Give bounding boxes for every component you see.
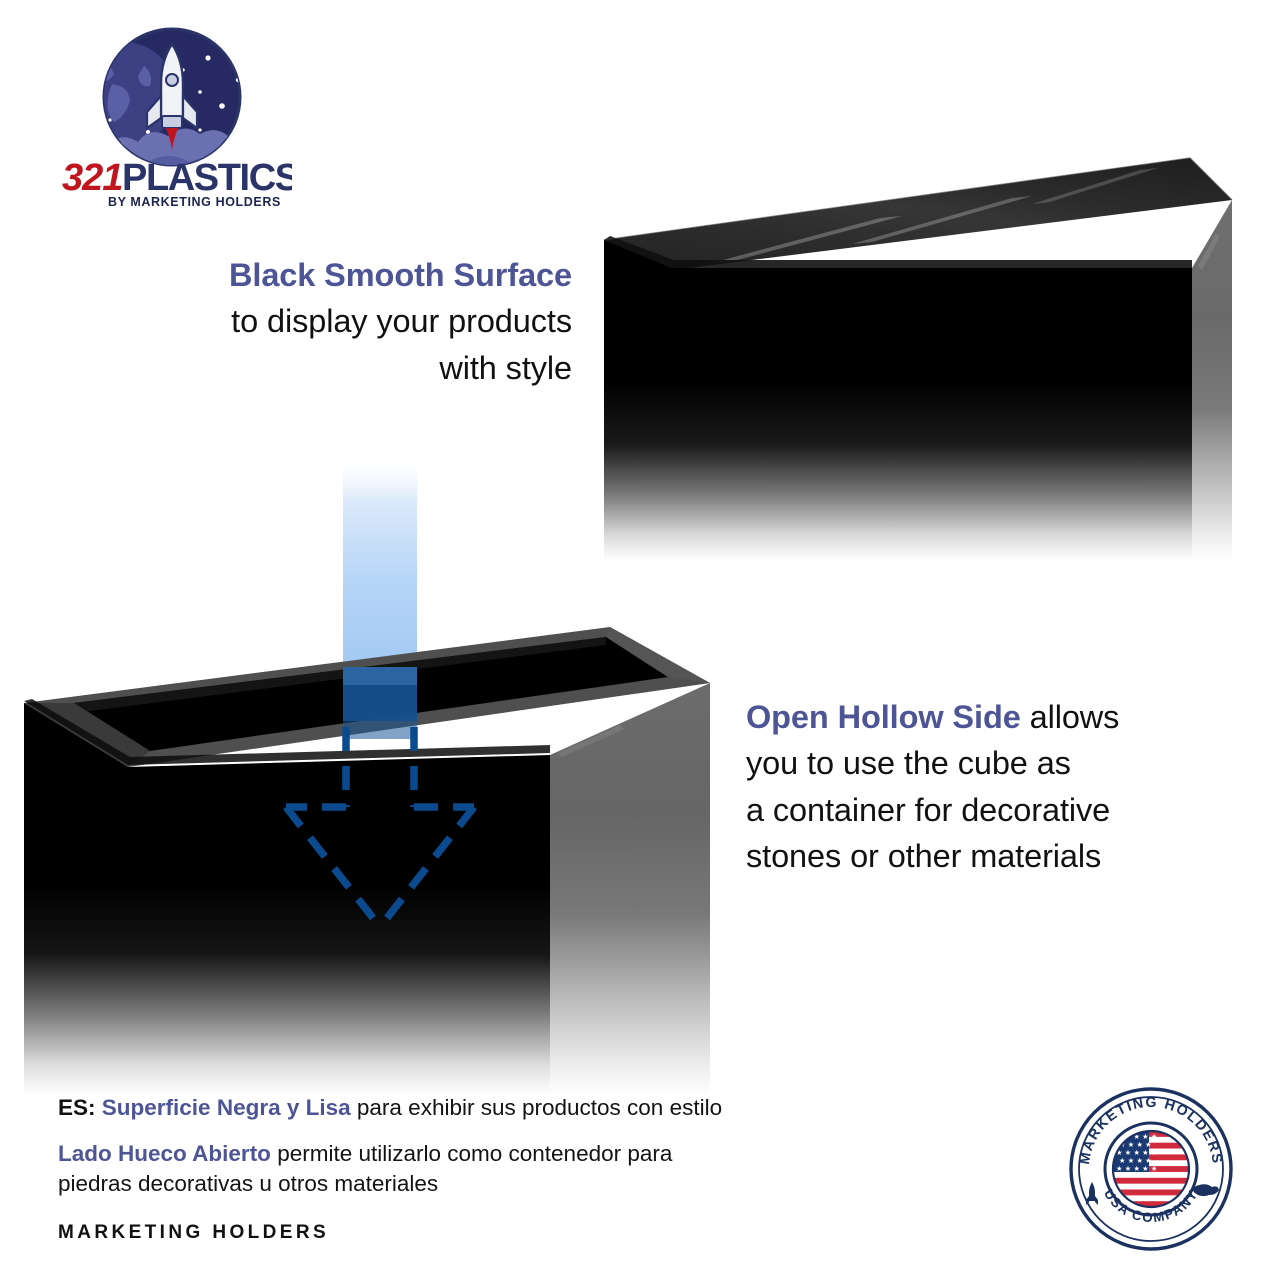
spanish-accent-2: Lado Hueco Abierto — [58, 1141, 271, 1166]
marketing-holders-usa-seal: ★ ★ ★ ★ ★ ★ ★ ★ ★ ★ ★ ★ ★ ★ ★ ★ ★ ★ ★ ★ … — [1068, 1086, 1234, 1252]
callout-black-smooth-surface: Black Smooth Surface to display your pro… — [110, 252, 572, 391]
callout-surface-accent: Black Smooth Surface — [110, 252, 572, 298]
svg-text:PLASTICS: PLASTICS — [122, 157, 292, 199]
spanish-rest-1: para exhibir sus productos con estilo — [351, 1095, 722, 1120]
spanish-accent-1: Superficie Negra y Lisa — [102, 1095, 351, 1120]
321plastics-rocket-logo: 321 PLASTICS BY MARKETING HOLDERS — [52, 22, 292, 212]
callout-surface-line2: to display your products — [110, 298, 572, 344]
spanish-translation-block: ES: Superficie Negra y Lisa para exhibir… — [58, 1093, 898, 1199]
callout-hollow-line1-rest: allows — [1021, 699, 1120, 735]
infographic-canvas: 321 PLASTICS BY MARKETING HOLDERS — [0, 0, 1280, 1280]
callout-hollow-line2: you to use the cube as — [746, 740, 1198, 786]
callout-surface-line3: with style — [110, 345, 572, 391]
spanish-rest-2b: piedras decorativas u otros materiales — [58, 1171, 438, 1196]
callout-hollow-line3: a container for decorative — [746, 787, 1198, 833]
svg-text:★ ★ ★ ★ ★: ★ ★ ★ ★ ★ — [1116, 1164, 1157, 1173]
callout-hollow-line1: Open Hollow Side allows — [746, 694, 1198, 740]
spanish-rest-2: permite utilizarlo como contenedor para — [271, 1141, 672, 1166]
callout-hollow-accent: Open Hollow Side — [746, 699, 1021, 735]
svg-text:321: 321 — [62, 157, 122, 199]
footer-wordmark: MARKETING HOLDERS — [58, 1222, 329, 1244]
spanish-line-2: Lado Hueco Abierto permite utilizarlo co… — [58, 1139, 898, 1199]
black-acrylic-cube-open-top — [10, 455, 740, 1095]
svg-text:BY MARKETING HOLDERS: BY MARKETING HOLDERS — [108, 195, 281, 209]
spanish-line-1: ES: Superficie Negra y Lisa para exhibir… — [58, 1093, 898, 1123]
spanish-prefix: ES: — [58, 1095, 96, 1120]
callout-hollow-line4: stones or other materials — [746, 833, 1198, 879]
callout-open-hollow-side: Open Hollow Side allows you to use the c… — [746, 694, 1198, 880]
